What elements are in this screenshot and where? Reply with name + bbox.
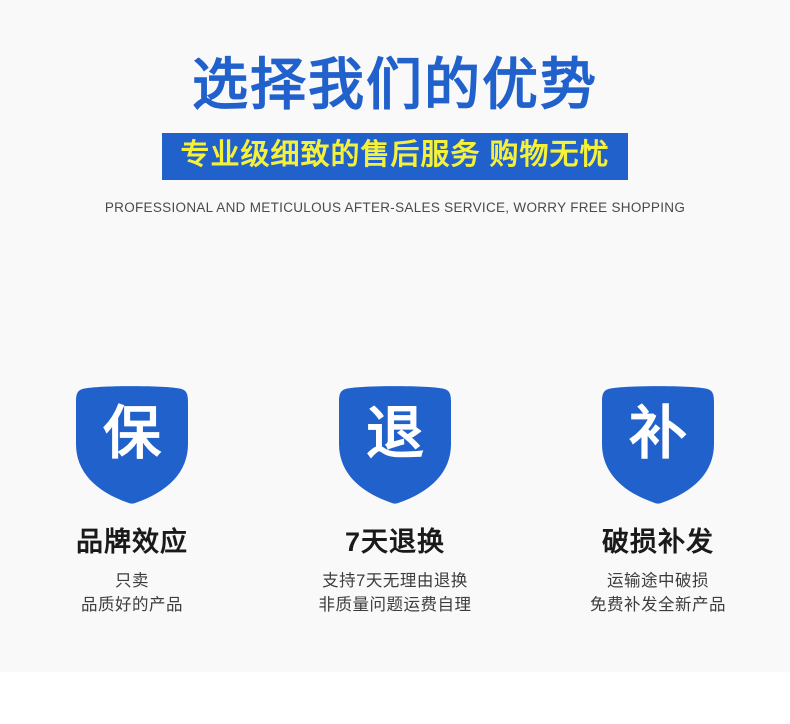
feature-column-2: 退 7天退换 支持7天无理由退换 非质量问题运费自理: [264, 380, 527, 618]
feature-line-2-1: 支持7天无理由退换: [264, 570, 527, 594]
feature-line-2-2: 非质量问题运费自理: [264, 594, 527, 618]
feature-column-1: 保 品牌效应 只卖 品质好的产品: [1, 380, 264, 618]
shield-guarantee-icon: 保: [76, 380, 188, 504]
promo-banner-page: 选择我们的优势 专业级细致的售后服务 购物无忧 PROFESSIONAL AND…: [0, 0, 790, 724]
sub-banner-container: 专业级细致的售后服务 购物无忧: [0, 133, 790, 180]
feature-title-3: 破损补发: [527, 528, 790, 558]
feature-lines-2: 支持7天无理由退换 非质量问题运费自理: [264, 570, 527, 618]
shield-replacement-icon: 补: [602, 380, 714, 504]
page-title: 选择我们的优势: [0, 0, 790, 113]
feature-column-3: 补 破损补发 运输途中破损 免费补发全新产品: [527, 380, 790, 618]
sub-banner-highlight: 专业级细致的售后服务 购物无忧: [162, 133, 627, 180]
feature-columns: 保 品牌效应 只卖 品质好的产品 退 7天退换 支持7天无理由退换 非质量问题运…: [0, 380, 790, 618]
feature-line-3-2: 免费补发全新产品: [527, 594, 790, 618]
english-subtitle: PROFESSIONAL AND METICULOUS AFTER-SALES …: [0, 200, 790, 215]
feature-line-1-1: 只卖: [1, 570, 264, 594]
feature-title-1: 品牌效应: [1, 528, 264, 558]
feature-line-1-2: 品质好的产品: [1, 594, 264, 618]
feature-line-3-1: 运输途中破损: [527, 570, 790, 594]
header-section: 选择我们的优势 专业级细致的售后服务 购物无忧 PROFESSIONAL AND…: [0, 0, 790, 215]
feature-title-2: 7天退换: [264, 528, 527, 558]
feature-lines-1: 只卖 品质好的产品: [1, 570, 264, 618]
shield-return-icon: 退: [339, 380, 451, 504]
feature-lines-3: 运输途中破损 免费补发全新产品: [527, 570, 790, 618]
